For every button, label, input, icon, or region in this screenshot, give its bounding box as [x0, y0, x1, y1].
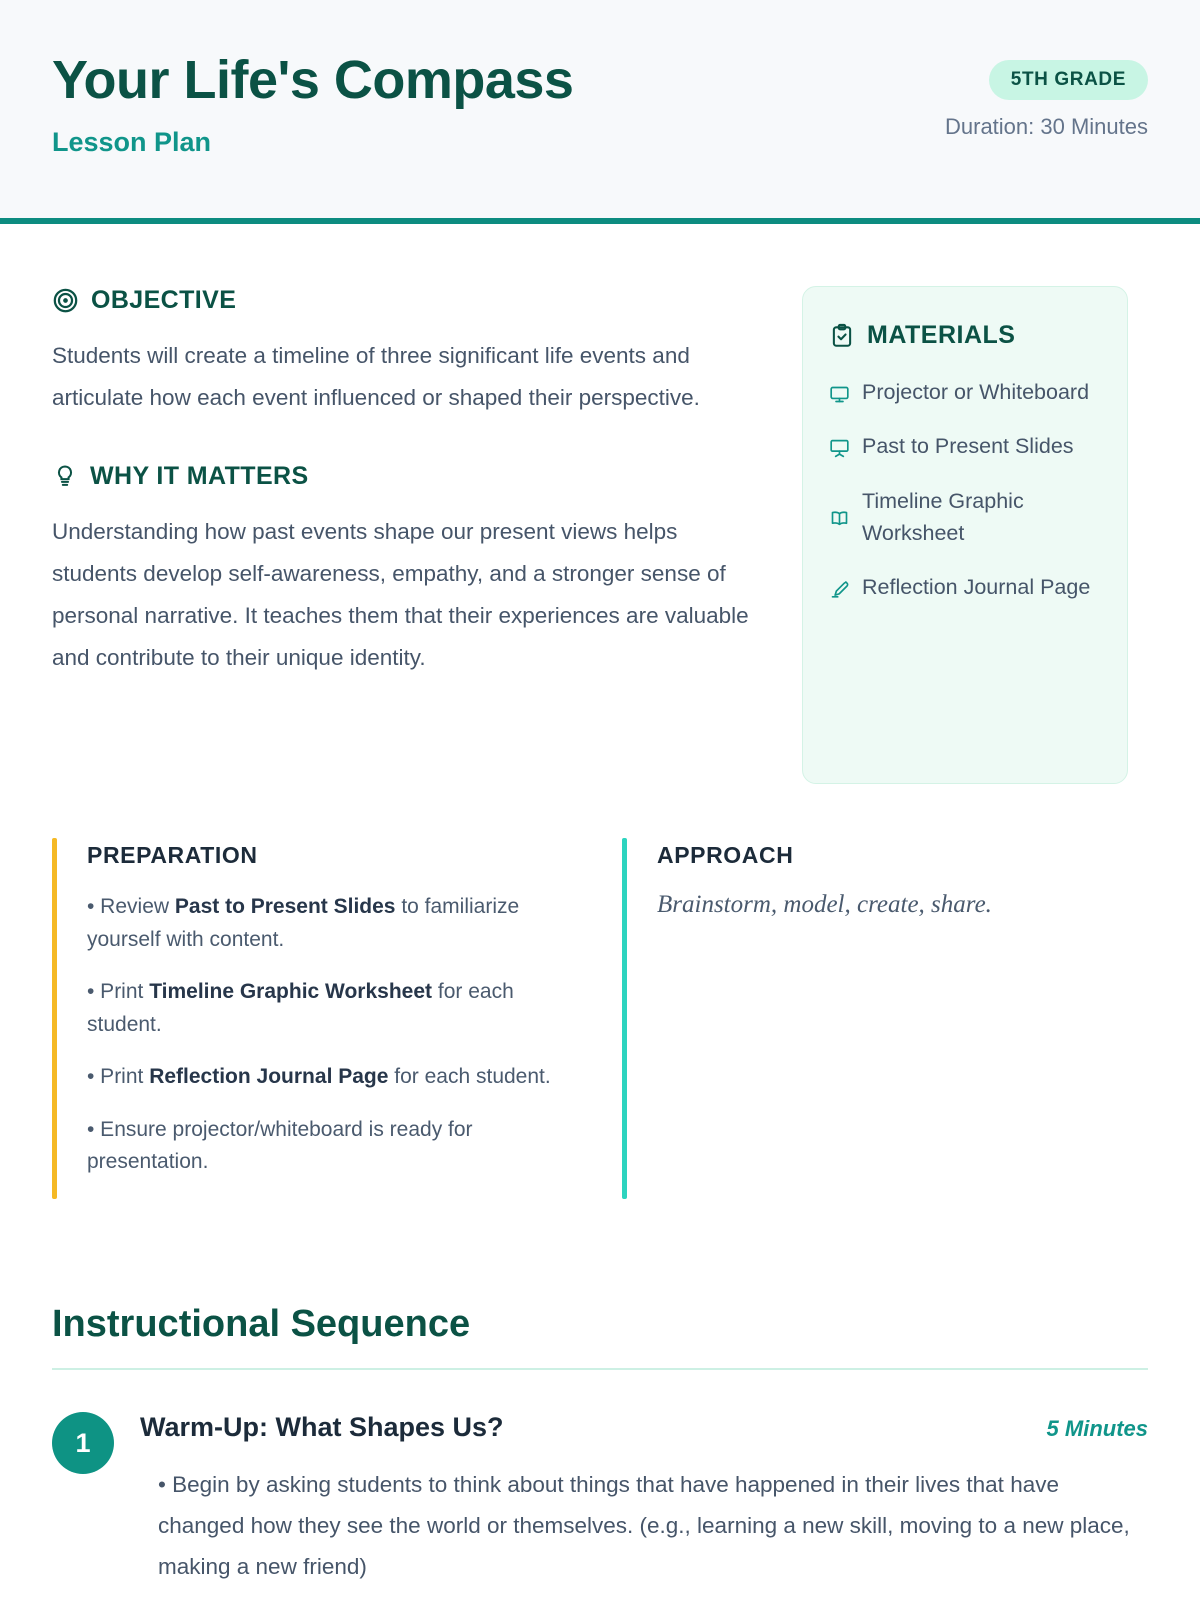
material-item-label: Projector or Whiteboard: [862, 376, 1089, 408]
step-duration: 5 Minutes: [1027, 1416, 1148, 1442]
prep-item-pre: • Ensure projector/whiteboard is ready f…: [87, 1118, 473, 1174]
material-item: Reflection Journal Page: [829, 571, 1101, 603]
step-number-badge: 1: [52, 1412, 114, 1474]
header-title-group: Your Life's Compass Lesson Plan: [52, 44, 573, 158]
step-title: Warm-Up: What Shapes Us?: [140, 1412, 504, 1443]
why-it-matters-heading-row: WHY IT MATTERS: [52, 462, 758, 491]
materials-column: MATERIALS Projector or Whiteboard: [802, 286, 1128, 784]
prep-item-bold: Past to Present Slides: [175, 895, 396, 918]
material-item: Timeline Graphic Worksheet: [829, 485, 1101, 550]
section-divider: [52, 1368, 1148, 1371]
target-icon: [52, 287, 79, 314]
header-meta-group: 5TH GRADE Duration: 30 Minutes: [945, 44, 1148, 140]
document-header: Your Life's Compass Lesson Plan 5TH GRAD…: [0, 0, 1200, 218]
why-it-matters-text: Understanding how past events shape our …: [52, 511, 758, 680]
monitor-icon: [829, 376, 850, 408]
approach-section: APPROACH Brainstorm, model, create, shar…: [622, 838, 1148, 1199]
sequence-step: 1 Warm-Up: What Shapes Us? 5 Minutes • B…: [52, 1412, 1148, 1588]
material-item: Past to Present Slides: [829, 430, 1101, 462]
objective-heading-row: OBJECTIVE: [52, 286, 758, 315]
instructional-sequence-section: Instructional Sequence 1 Warm-Up: What S…: [52, 1303, 1148, 1588]
prep-item-post: for each student.: [388, 1065, 550, 1088]
overview-main-column: OBJECTIVE Students will create a timelin…: [52, 286, 758, 680]
material-item-label: Timeline Graphic Worksheet: [862, 485, 1101, 550]
step-header-row: Warm-Up: What Shapes Us? 5 Minutes: [140, 1412, 1148, 1443]
instructional-sequence-heading: Instructional Sequence: [52, 1303, 1148, 1346]
prep-item-pre: • Print: [87, 1065, 149, 1088]
prep-approach-grid: PREPARATION • Review Past to Present Sli…: [52, 838, 1148, 1199]
presentation-screen-icon: [829, 430, 850, 462]
objective-section: OBJECTIVE Students will create a timelin…: [52, 286, 758, 420]
approach-text: Brainstorm, model, create, share.: [657, 891, 992, 919]
material-item-label: Past to Present Slides: [862, 430, 1074, 462]
lightbulb-icon: [52, 463, 78, 489]
prep-item-pre: • Print: [87, 980, 149, 1003]
preparation-item: • Review Past to Present Slides to famil…: [87, 891, 578, 956]
clipboard-check-icon: [829, 323, 855, 349]
prep-item-pre: • Review: [87, 895, 175, 918]
materials-heading-row: MATERIALS: [829, 321, 1101, 350]
material-item: Projector or Whiteboard: [829, 376, 1101, 408]
page-subtitle: Lesson Plan: [52, 127, 573, 158]
prep-item-bold: Reflection Journal Page: [149, 1065, 388, 1088]
objective-heading: OBJECTIVE: [91, 286, 236, 315]
objective-text: Students will create a timeline of three…: [52, 335, 758, 420]
duration-label: Duration: 30 Minutes: [945, 114, 1148, 140]
prep-item-bold: Timeline Graphic Worksheet: [149, 980, 432, 1003]
overview-grid: OBJECTIVE Students will create a timelin…: [52, 224, 1148, 784]
materials-heading: MATERIALS: [867, 321, 1015, 350]
open-book-icon: [829, 485, 850, 550]
preparation-title: PREPARATION: [87, 842, 578, 869]
material-item-label: Reflection Journal Page: [862, 571, 1090, 603]
why-it-matters-heading: WHY IT MATTERS: [90, 462, 309, 491]
page-title: Your Life's Compass: [52, 52, 573, 109]
preparation-item: • Ensure projector/whiteboard is ready f…: [87, 1114, 578, 1179]
preparation-item: • Print Timeline Graphic Worksheet for e…: [87, 976, 578, 1041]
grade-badge: 5TH GRADE: [989, 60, 1148, 100]
step-bullet-text: • Begin by asking students to think abou…: [140, 1465, 1148, 1588]
preparation-item: • Print Reflection Journal Page for each…: [87, 1061, 578, 1094]
materials-card: MATERIALS Projector or Whiteboard: [802, 286, 1128, 784]
why-it-matters-section: WHY IT MATTERS Understanding how past ev…: [52, 462, 758, 680]
approach-title: APPROACH: [657, 842, 992, 869]
preparation-section: PREPARATION • Review Past to Present Sli…: [52, 838, 578, 1199]
highlighter-pen-icon: [829, 571, 850, 603]
